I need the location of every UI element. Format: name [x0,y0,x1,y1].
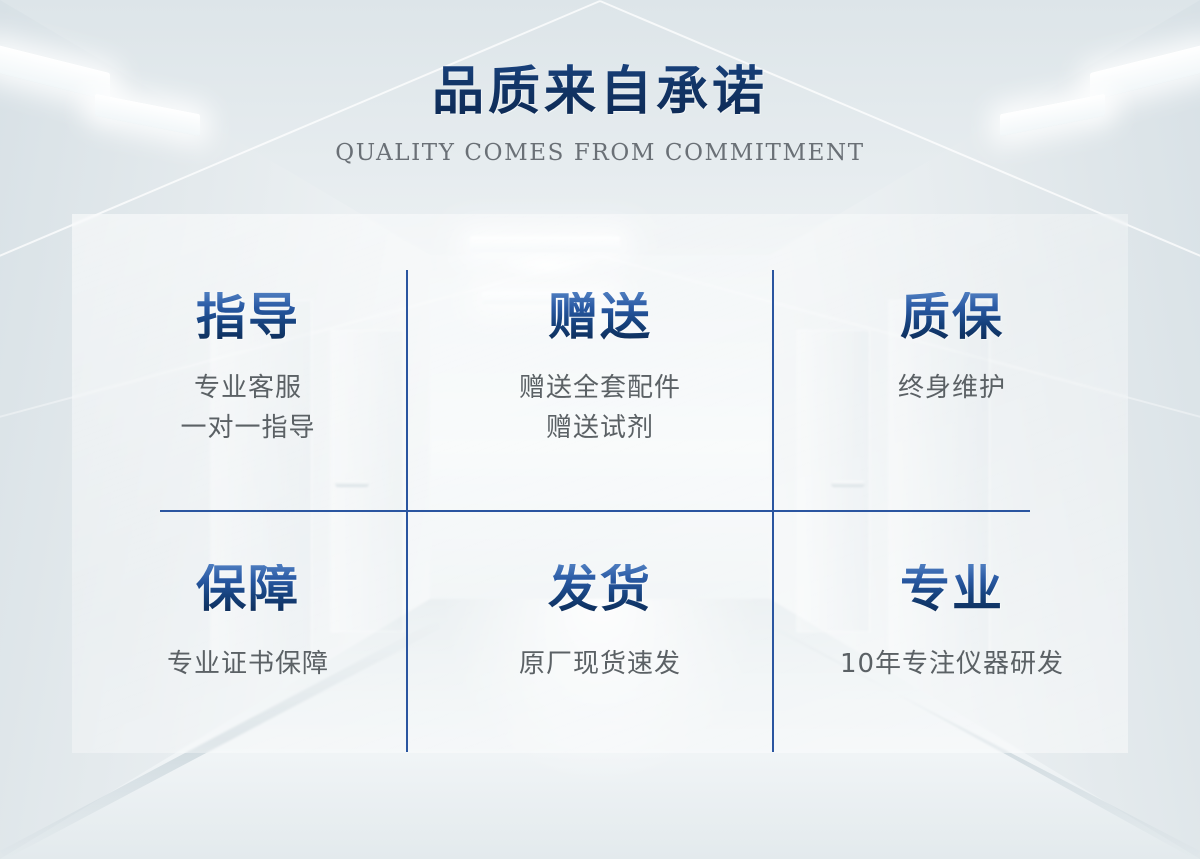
feature-line: 赠送全套配件 [519,368,681,408]
feature-cell-warranty: 质保 终身维护 [776,214,1128,510]
feature-line: 赠送试剂 [519,408,681,448]
feature-title: 质保 [900,292,1004,342]
feature-line: 专业证书保障 [167,644,329,684]
feature-line: 一对一指导 [180,408,315,448]
feature-cell-assurance: 保障 专业证书保障 [72,510,424,753]
feature-description: 10年专注仪器研发 [840,644,1064,684]
feature-line: 10年专注仪器研发 [840,644,1064,684]
feature-line: 专业客服 [180,368,315,408]
feature-description: 赠送全套配件 赠送试剂 [519,368,681,449]
feature-cell-gift: 赠送 赠送全套配件 赠送试剂 [424,214,776,510]
feature-description: 终身维护 [898,368,1006,408]
feature-cell-expertise: 专业 10年专注仪器研发 [776,510,1128,753]
feature-cell-shipping: 发货 原厂现货速发 [424,510,776,753]
feature-line: 终身维护 [898,368,1006,408]
feature-title: 发货 [548,564,652,614]
feature-title: 保障 [196,564,300,614]
feature-line: 原厂现货速发 [519,644,681,684]
feature-description: 专业证书保障 [167,644,329,684]
page-subtitle: QUALITY COMES FROM COMMITMENT [0,118,1200,166]
promo-banner: 品质来自承诺 QUALITY COMES FROM COMMITMENT 指导 … [0,0,1200,859]
feature-title: 专业 [900,564,1004,614]
page-title: 品质来自承诺 [0,0,1200,118]
feature-grid: 指导 专业客服 一对一指导 赠送 赠送全套配件 赠送试剂 质保 终身维护 保障 … [72,214,1128,753]
feature-title: 指导 [196,292,300,342]
feature-description: 专业客服 一对一指导 [180,368,315,449]
feature-title: 赠送 [548,292,652,342]
banner-header: 品质来自承诺 QUALITY COMES FROM COMMITMENT [0,0,1200,166]
feature-cell-guidance: 指导 专业客服 一对一指导 [72,214,424,510]
feature-description: 原厂现货速发 [519,644,681,684]
